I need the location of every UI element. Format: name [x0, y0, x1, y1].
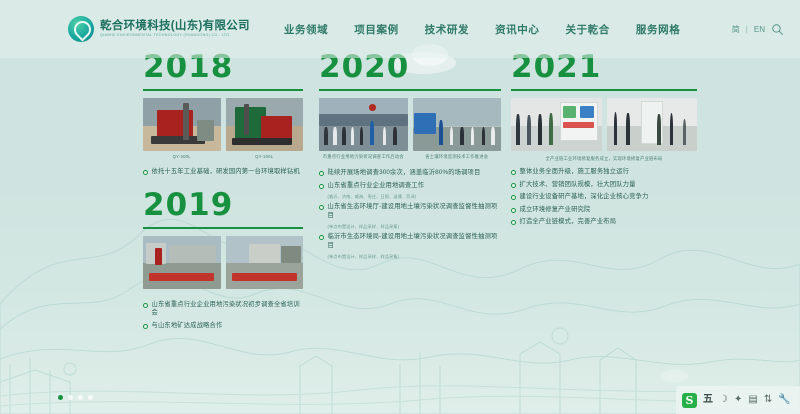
bullet-dot-icon [319, 184, 324, 189]
year-label-2019: 2019 [143, 190, 303, 221]
photo-drill-rig-1 [143, 98, 221, 151]
nav-item-rd[interactable]: 技术研发 [425, 22, 469, 37]
main-navigation: 业务领域 项目案例 技术研发 资讯中心 关于乾合 服务网格 [284, 22, 680, 37]
logo-name-cn: 乾合环境科技(山东)有限公司 [100, 20, 250, 32]
bullet-text: 成立环境修复产业研究院 [520, 206, 591, 215]
bullet-dot-icon [511, 208, 516, 213]
bullet-dot-icon [511, 183, 516, 188]
bullet-dot-icon [143, 170, 148, 175]
bullet-text: 建设行业设备研产基地，深化企业核心竞争力 [520, 193, 649, 202]
bullet-list-2018: 依托十五年工业基础，研发国内第一台环境取样钻机 [143, 168, 303, 177]
bullet-list-2020: 陆续开展场地调查300余次，涵盖临沂80%的场调项目 山东省重点行业企业用地调查… [319, 169, 501, 260]
page-root: 乾合环境科技(山东)有限公司 QIANHE ENVIRONMENTAL TECH… [0, 0, 800, 414]
ime-toolbar: S 五 ☽ ✦ ▤ ⇅ 🔧 [676, 386, 800, 414]
bullet-item: 临沂市生态环境局-建设用地土壤污染状况调查监督性抽测项目 [319, 233, 501, 250]
bullet-dot-icon [143, 303, 148, 308]
photo-item[interactable] [143, 236, 221, 292]
keyboard-icon[interactable]: ▤ [748, 395, 757, 405]
photo-group-2021 [511, 98, 697, 154]
bullet-dot-icon [319, 205, 324, 210]
photo-office-visit-1 [511, 98, 602, 151]
timeline-column-2020: 2020 [319, 52, 501, 334]
year-divider [319, 89, 501, 91]
timeline-column-left: 2018 QY-300L [143, 52, 303, 334]
bullet-text: 山东省生态环境厅-建设用地土壤污染状况调查监督性抽测项目 [328, 203, 502, 220]
bullet-dot-icon [511, 220, 516, 225]
lang-switch-cn[interactable]: 简 [732, 24, 740, 35]
bullet-subtext: (单点布置设计、样品采样、样品采集) [328, 254, 502, 260]
photo-group-caption: 全产业链工业环境修复服务成立，实现环境修复产业链布局 [511, 156, 697, 162]
photo-group-2019 [143, 236, 303, 292]
timeline-column-2021: 2021 [511, 52, 697, 334]
photo-group-2018: QY-300L QY-100L [143, 98, 303, 159]
bullet-dot-icon [511, 170, 516, 175]
bullet-item: 建设行业设备研产基地，深化企业核心竞争力 [511, 193, 697, 202]
bullet-item: 山东省生态环境厅-建设用地土壤污染状况调查监督性抽测项目 [319, 203, 501, 220]
photo-caption: 市重点行业用地污染状况调查工作启动会 [319, 154, 408, 160]
photo-group-training-2 [226, 236, 304, 289]
sparkle-icon[interactable]: ✦ [734, 395, 742, 405]
cloud-decoration [660, 370, 688, 382]
nav-item-about[interactable]: 关于乾合 [565, 22, 609, 37]
photo-caption: QY-100L [226, 154, 304, 159]
bullet-text: 整体业务全面升级，施工服务独立运行 [520, 168, 630, 177]
nav-item-service[interactable]: 服务网格 [636, 22, 680, 37]
bullet-list-2021: 整体业务全面升级，施工服务独立运行 扩大技术、营销团队规模，壮大团队力量 建设行… [511, 168, 697, 227]
sogou-logo-icon[interactable]: S [682, 393, 697, 408]
logo-text: 乾合环境科技(山东)有限公司 QIANHE ENVIRONMENTAL TECH… [100, 20, 250, 38]
site-logo[interactable]: 乾合环境科技(山东)有限公司 QIANHE ENVIRONMENTAL TECH… [68, 16, 250, 42]
photo-drill-rig-2 [226, 98, 304, 151]
year-divider [511, 89, 697, 91]
wrench-icon[interactable]: 🔧 [778, 395, 790, 405]
header-utilities: 简 | EN [732, 23, 784, 36]
moon-icon[interactable]: ☽ [719, 395, 728, 405]
bullet-item: 山东省重点行业企业用地调查工作 [319, 182, 501, 191]
photo-group-2020: 市重点行业用地污染状况调查工作启动会 省 [319, 98, 501, 160]
pagination-dot-1[interactable] [58, 395, 63, 400]
bullet-text: 与山东地矿达成战略合作 [152, 322, 223, 331]
site-header: 乾合环境科技(山东)有限公司 QIANHE ENVIRONMENTAL TECH… [0, 0, 800, 58]
photo-caption: QY-300L [143, 154, 221, 159]
lang-switch-en[interactable]: EN [754, 25, 765, 34]
bullet-item: 山东省重点行业企业用地污染状况初步调查全省培训会 [143, 301, 303, 318]
photo-meeting-1 [319, 98, 408, 151]
bullet-dot-icon [319, 171, 324, 176]
timeline-entry-2019: 2019 [143, 190, 303, 331]
pagination-dot-3[interactable] [78, 395, 83, 400]
year-divider [143, 227, 303, 229]
pagination-dot-4[interactable] [88, 395, 93, 400]
updown-icon[interactable]: ⇅ [764, 395, 772, 405]
lang-separator: | [746, 25, 748, 34]
bullet-text: 临沂市生态环境局-建设用地土壤污染状况调查监督性抽测项目 [328, 233, 502, 250]
photo-office-visit-2 [607, 98, 698, 151]
bullet-text: 陆续开展场地调查300余次，涵盖临沂80%的场调项目 [328, 169, 481, 178]
photo-item[interactable]: 省土壤环境监测技术工作推进会 [413, 98, 502, 160]
chinese-input-icon[interactable]: 五 [703, 395, 713, 405]
bullet-item: 成立环境修复产业研究院 [511, 206, 697, 215]
search-icon[interactable] [771, 23, 784, 36]
bullet-text: 打造全产业链模式，完善产业布局 [520, 218, 617, 227]
nav-item-cases[interactable]: 项目案例 [354, 22, 398, 37]
photo-group-training-1 [143, 236, 221, 289]
photo-item[interactable]: QY-100L [226, 98, 304, 159]
timeline-section: 2018 QY-300L [0, 52, 800, 334]
photo-meeting-2 [413, 98, 502, 151]
bullet-item: 打造全产业链模式，完善产业布局 [511, 218, 697, 227]
year-divider [143, 89, 303, 91]
bullet-item: 陆续开展场地调查300余次，涵盖临沂80%的场调项目 [319, 169, 501, 178]
bullet-dot-icon [511, 195, 516, 200]
bullet-subtext: (单点布置设计、样品采样、样品采集) [328, 224, 502, 230]
logo-icon [68, 16, 94, 42]
bullet-subtext: (临沂、济南、威海、枣庄、日照、淄博、菏泽) [328, 194, 502, 200]
bullet-text: 山东省重点行业企业用地污染状况初步调查全省培训会 [152, 301, 304, 318]
bullet-item: 依托十五年工业基础，研发国内第一台环境取样钻机 [143, 168, 303, 177]
timeline-entry-2018: 2018 QY-300L [143, 52, 303, 177]
photo-caption: 省土壤环境监测技术工作推进会 [413, 154, 502, 160]
bullet-item: 整体业务全面升级，施工服务独立运行 [511, 168, 697, 177]
logo-name-en: QIANHE ENVIRONMENTAL TECHNOLOGY (SHANDON… [100, 34, 250, 38]
bullet-text: 扩大技术、营销团队规模，壮大团队力量 [520, 181, 636, 190]
bullet-dot-icon [143, 324, 148, 329]
photo-item[interactable] [511, 98, 602, 154]
photo-item[interactable]: 市重点行业用地污染状况调查工作启动会 [319, 98, 408, 160]
photo-item[interactable]: QY-300L [143, 98, 221, 159]
bullet-text: 山东省重点行业企业用地调查工作 [328, 182, 425, 191]
bullet-text: 依托十五年工业基础，研发国内第一台环境取样钻机 [152, 168, 300, 177]
nav-item-business[interactable]: 业务领域 [284, 22, 328, 37]
pagination-dot-2[interactable] [68, 395, 73, 400]
photo-item[interactable] [607, 98, 698, 154]
nav-item-news[interactable]: 资讯中心 [495, 22, 539, 37]
carousel-pagination [58, 395, 93, 400]
bullet-list-2019: 山东省重点行业企业用地污染状况初步调查全省培训会 与山东地矿达成战略合作 [143, 301, 303, 331]
bullet-item: 扩大技术、营销团队规模，壮大团队力量 [511, 181, 697, 190]
bullet-dot-icon [319, 235, 324, 240]
bullet-item: 与山东地矿达成战略合作 [143, 322, 303, 331]
photo-item[interactable] [226, 236, 304, 292]
